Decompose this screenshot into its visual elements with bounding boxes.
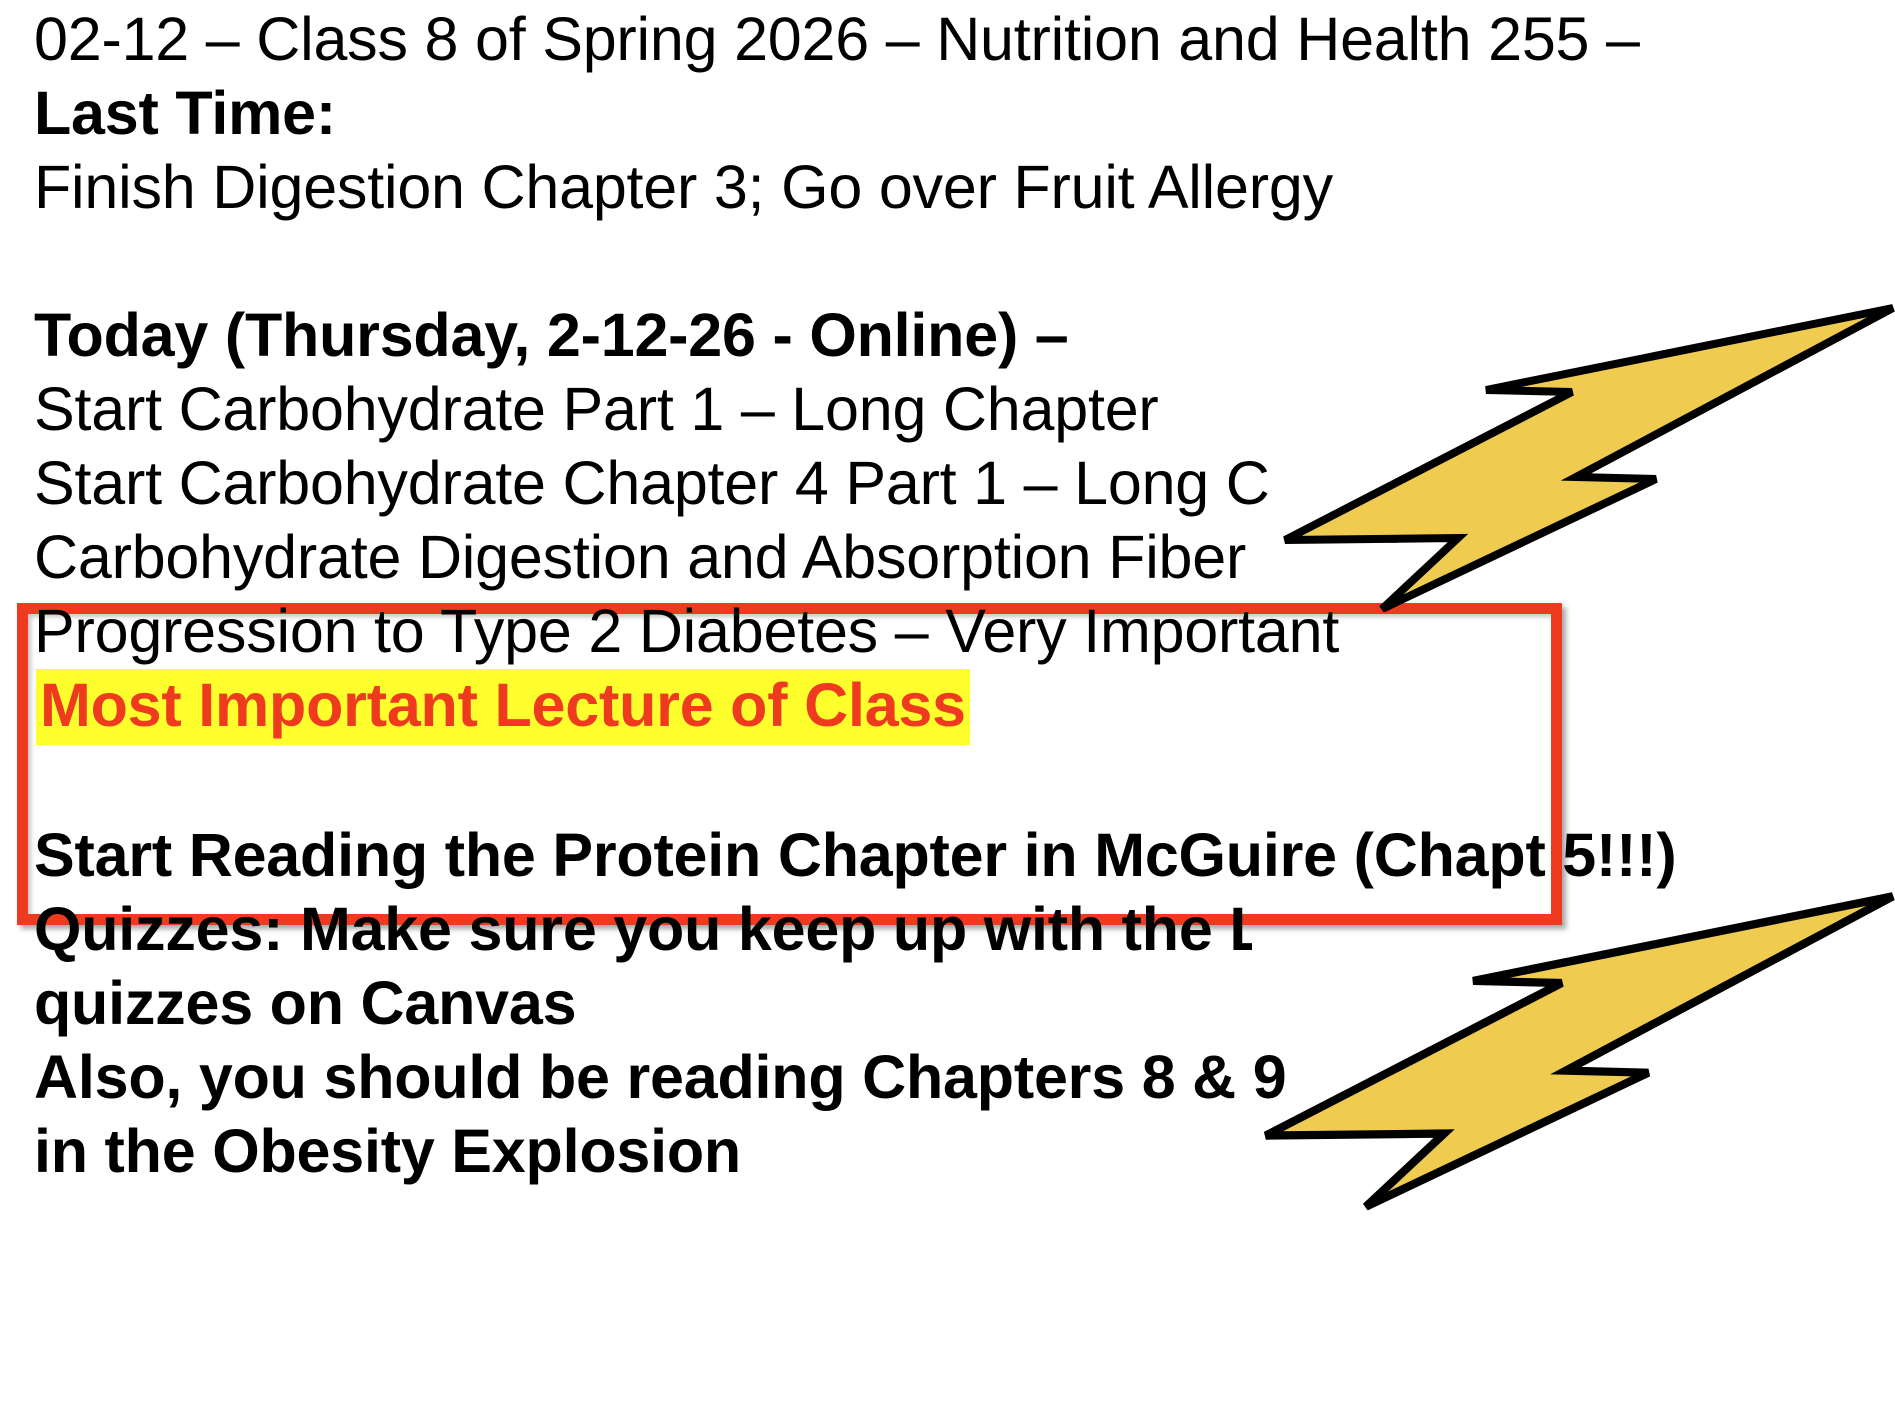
reading-line-2: quizzes on Canvas [34,966,576,1040]
reading-line-0: Start Reading the Protein Chapter in McG… [34,818,1676,892]
today-heading: Today (Thursday, 2-12-26 - Online) – [34,298,1069,372]
reading-line-1: Quizzes: Make sure you keep up with the … [34,892,1252,966]
boxed-highlighted-line: Most Important Lecture of Class [36,668,970,742]
header-line: 02-12 – Class 8 of Spring 2026 – Nutriti… [34,2,1640,76]
reading-line-3: Also, you should be reading Chapters 8 &… [34,1040,1287,1114]
last-time-heading: Last Time: [34,76,336,150]
last-time-item: Finish Digestion Chapter 3; Go over Frui… [34,150,1333,224]
boxed-line-0: Carbohydrate Digestion and Absorption Fi… [34,520,1246,594]
today-item-0: Start Carbohydrate Part 1 – Long Chapter [34,372,1159,446]
reading-line-4: in the Obesity Explosion [34,1114,741,1188]
boxed-line-1: Progression to Type 2 Diabetes – Very Im… [34,594,1339,668]
slide-text-layer: 02-12 – Class 8 of Spring 2026 – Nutriti… [0,0,1895,1425]
slide-canvas: 02-12 – Class 8 of Spring 2026 – Nutriti… [0,0,1895,1425]
today-item-1: Start Carbohydrate Chapter 4 Part 1 – Lo… [34,446,1269,520]
most-important-lecture-text: Most Important Lecture of Class [36,669,970,745]
